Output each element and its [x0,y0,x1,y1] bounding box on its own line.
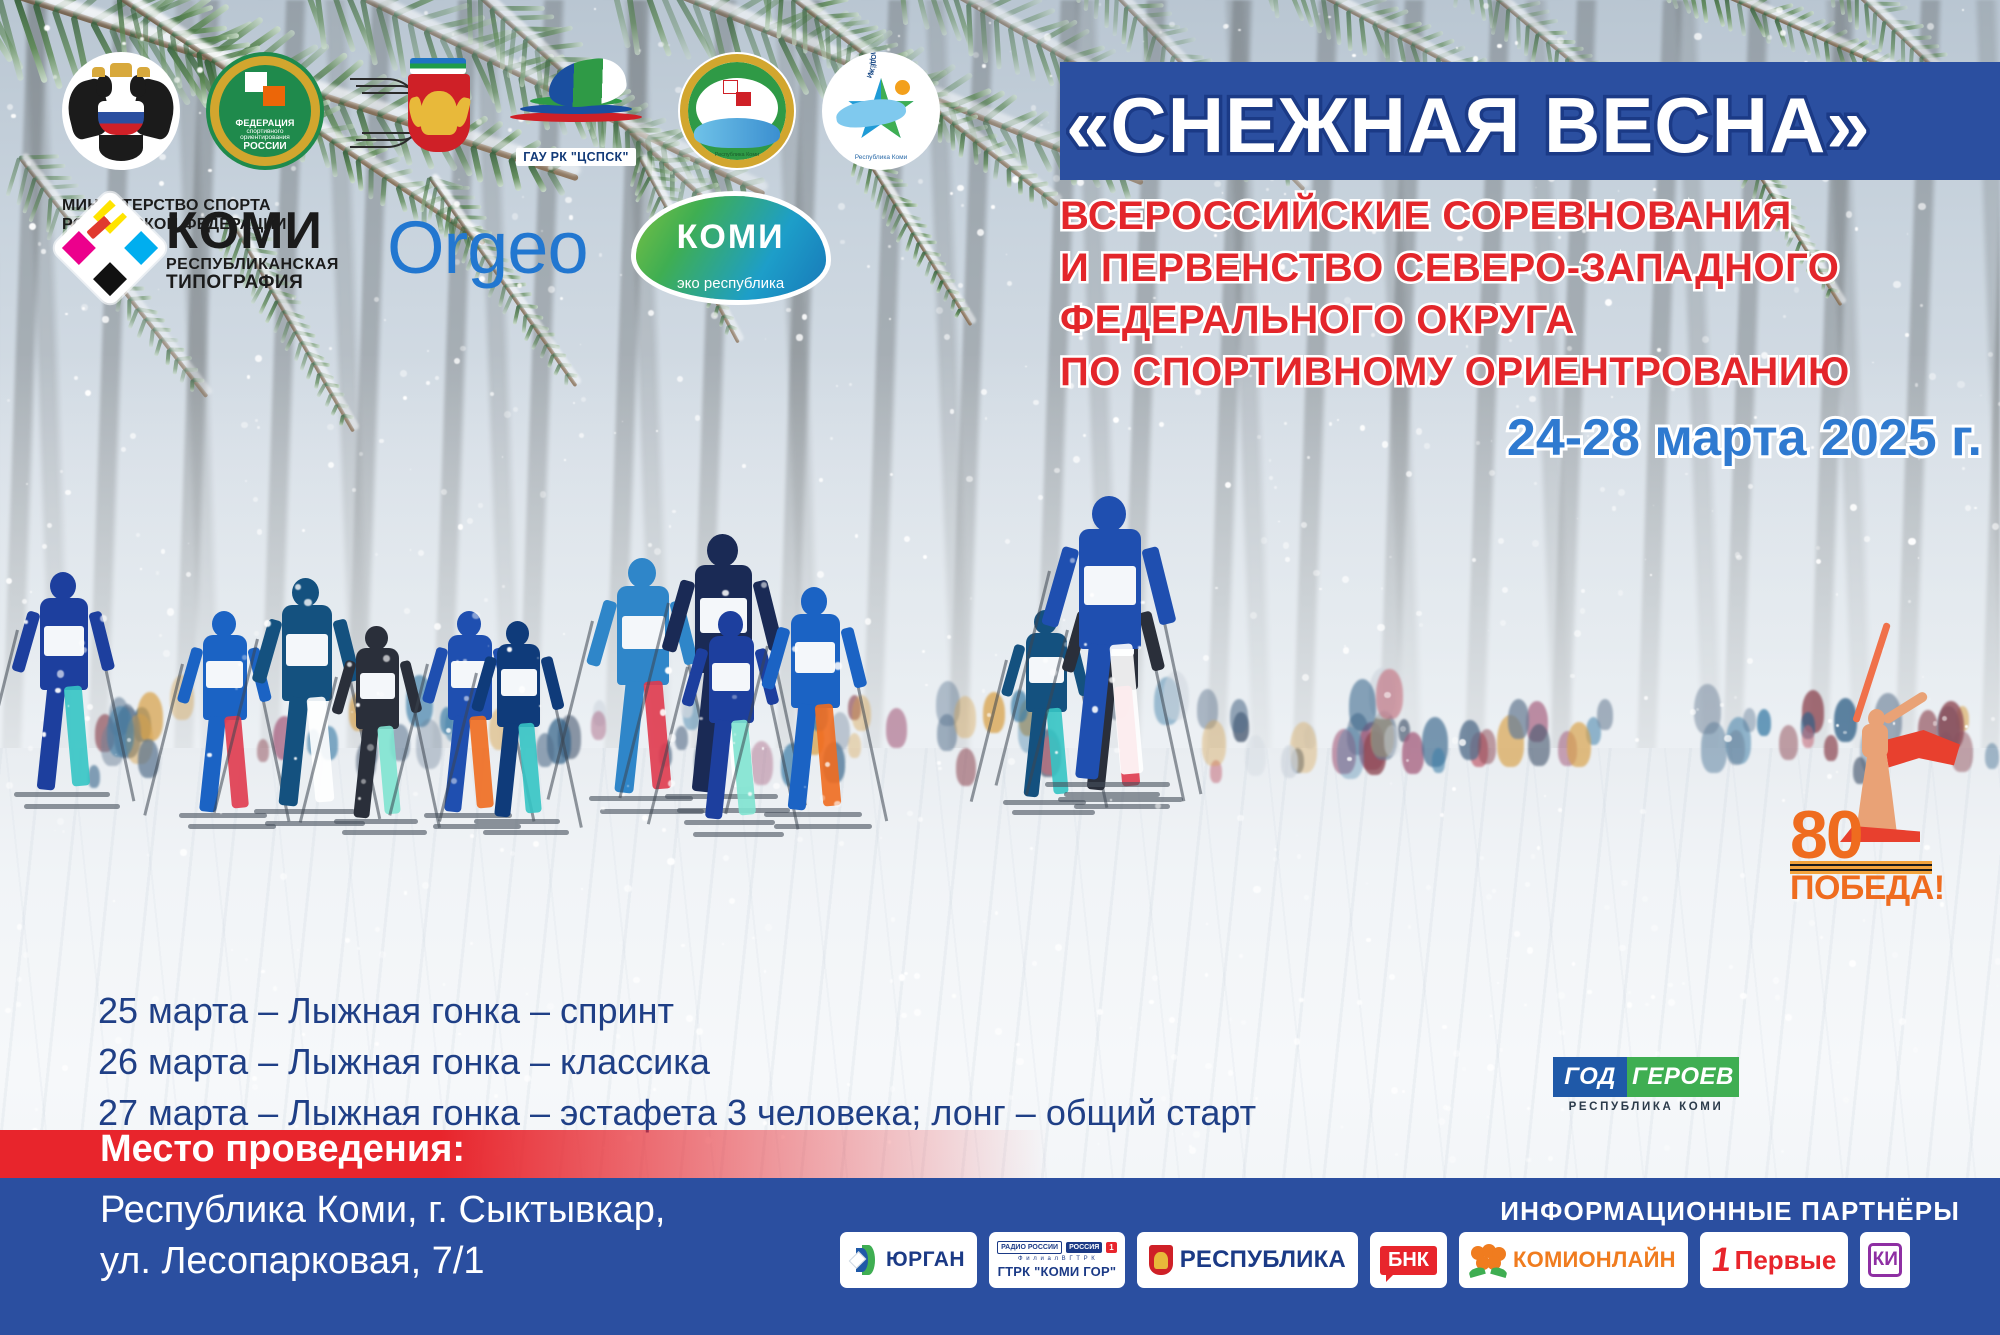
spectator [1337,727,1365,780]
skier-figure [760,575,872,840]
yurgan-mark-icon [852,1245,878,1275]
komi-orienteering-federation-emblem-icon: Республика Коми [678,52,796,170]
partners-title: ИНФОРМАЦИОННЫЕ ПАРТНЁРЫ [1500,1196,1960,1227]
spectator [886,708,907,748]
sponsor-logos-row: КОМИ РЕСПУБЛИКАНСКАЯ ТИПОГРАФИЯ Orgeo КО… [68,196,826,300]
subtitle-line-3: ФЕДЕРАЛЬНОГО ОКРУГА [1060,294,1990,346]
logo-gau-rk-cspsk: ГАУ РК "ЦСПСК" [502,52,652,170]
logo-orgeo: Orgeo [387,211,588,285]
republican-centre-for-children-and-youth-emblem-icon: РЕСПУБЛИКАНСКИЙ ЦЕНТР ДЕТЕЙ И МОЛОДЁЖИ Р… [822,52,940,170]
spectator [1985,743,1999,770]
logo-year-of-heroes: ГОД ГЕРОЕВ РЕСПУБЛИКА КОМИ [1553,1057,1739,1113]
spectator [1376,669,1402,719]
partner-gtrk-komi-gor[interactable]: РАДИО РОССИИ РОССИЯ 1 Ф и л и а л В Г Т … [989,1232,1125,1288]
partner-bnk-label: БНК [1380,1246,1437,1275]
subtitle-line-1: ВСЕРОССИЙСКИЕ СОРЕВНОВАНИЯ [1060,190,1990,242]
schedule-item: 25 марта – Лыжная гонка – спринт [98,985,1256,1036]
venue-address: Республика Коми, г. Сыктывкар, ул. Лесоп… [100,1185,666,1288]
logo-russian-orienteering-federation: ФЕДЕРАЦИЯ спортивного ориентирования РОС… [206,52,324,170]
logo-80-years-victory: 80 ПОБЕДА! [1790,690,1965,900]
partner-komionline[interactable]: КОМИОНЛАЙН [1459,1232,1688,1288]
federation-line4: РОССИИ [206,142,324,152]
event-subtitle: ВСЕРОССИЙСКИЕ СОРЕВНОВАНИЯ И ПЕРВЕНСТВО … [1060,190,1990,398]
youth-centre-subcaption: Республика Коми [822,154,940,161]
year-of-heroes-word-2: ГЕРОЕВ [1632,1063,1734,1091]
spectator [954,696,976,738]
spectator [1230,699,1248,733]
logo-komi-eco-republic: КОМИ эко республика [636,196,826,300]
partner-bnk[interactable]: БНК [1370,1232,1447,1288]
partner-respublika-label: РЕСПУБЛИКА [1180,1246,1346,1274]
partner-pervye-label: Первые [1735,1245,1837,1276]
spectator [1432,748,1445,772]
spectator [1349,679,1376,730]
subtitle-line-4: ПО СПОРТИВНОМУ ОРИЕНТРОВАНИЮ [1060,346,1990,398]
typography-line-3: ТИПОГРАФИЯ [166,273,339,292]
vgtrk-branch-label: Ф и л и а л В Г Т Р К [1018,1256,1096,1262]
spectator [1528,724,1550,766]
headline-block: «СНЕЖНАЯ ВЕСНА» ВСЕРОССИЙСКИЕ СОРЕВНОВАН… [1060,62,1990,464]
event-dates: 24-28 марта 2025 г. [1060,412,1990,464]
victory-word: ПОБЕДА! [1790,869,1945,908]
typography-line-1: КОМИ [166,205,339,257]
event-title: «СНЕЖНАЯ ВЕСНА» [1060,62,1990,164]
spectator [1281,745,1298,778]
partner-komionline-label: КОМИОНЛАЙН [1513,1247,1676,1273]
cloudberry-icon [1471,1244,1505,1276]
victory-number: 80 [1790,806,1914,864]
orgeo-wordmark: Orgeo [387,211,588,285]
spectator [1508,699,1529,738]
venue-label: Место проведения: [100,1128,465,1171]
logo-ministry-of-sport [62,52,180,170]
partner-ki-label: КИ [1868,1243,1902,1277]
pervye-one-icon: 1 [1709,1243,1733,1277]
komi-federation-caption: Республика Коми [678,152,796,158]
partner-respublika[interactable]: РЕСПУБЛИКА [1137,1232,1358,1288]
spectator [1402,732,1424,774]
komi-sport-ministry-emblem-icon [350,52,476,170]
rossiya-label: РОССИЯ [1066,1242,1102,1253]
spectator [956,748,976,786]
skier-figure [10,560,120,820]
gau-rk-cspsk-logo-icon: ГАУ РК "ЦСПСК" [502,52,652,170]
komi-eco-tagline: эко республика [636,275,826,292]
partner-gtrk-label: ГТРК "КОМИ ГОР" [998,1264,1117,1279]
komi-shield-icon [1149,1245,1173,1275]
year-of-heroes-word-1: ГОД [1564,1063,1616,1091]
event-poster: ФЕДЕРАЦИЯ спортивного ориентирования РОС… [0,0,2000,1335]
spectator [1597,699,1613,730]
typography-line-2: РЕСПУБЛИКАНСКАЯ [166,257,339,273]
logo-komi-sport-ministry [350,52,476,170]
schedule-item: 26 марта – Лыжная гонка – классика [98,1036,1256,1087]
skier-figure [470,610,569,844]
venue-address-line-2: ул. Лесопарковая, 7/1 [100,1236,666,1287]
spectator [1727,730,1746,765]
year-of-heroes-caption: РЕСПУБЛИКА КОМИ [1553,1101,1739,1113]
spectator [1743,708,1756,733]
radio-rossii-label: РАДИО РОССИИ [997,1241,1062,1254]
organizer-logos-row: ФЕДЕРАЦИЯ спортивного ориентирования РОС… [62,52,940,170]
russian-orienteering-federation-emblem-icon: ФЕДЕРАЦИЯ спортивного ориентирования РОС… [206,52,324,170]
logo-republican-youth-centre: РЕСПУБЛИКАНСКИЙ ЦЕНТР ДЕТЕЙ И МОЛОДЁЖИ Р… [822,52,940,170]
partners-logo-row: ЮРГАН РАДИО РОССИИ РОССИЯ 1 Ф и л и а л … [840,1232,1910,1288]
spectator [1245,735,1266,775]
spectator [1567,722,1591,767]
subtitle-line-2: И ПЕРВЕНСТВО СЕВЕРО-ЗАПАДНОГО [1060,242,1990,294]
rossiya-channel-badge: 1 [1106,1242,1116,1253]
spectator [1694,684,1720,734]
logo-komi-orienteering-federation: Республика Коми [678,52,796,170]
spectator [1757,709,1771,736]
spectator [1384,725,1400,756]
venue-label-bar: Место проведения: [0,1130,1050,1178]
cmyk-diamond-icon [51,189,170,308]
ministry-of-sport-emblem-icon [62,52,180,170]
partner-pervye[interactable]: 1 Первые [1700,1232,1849,1288]
spectator [1202,720,1226,766]
venue-address-line-1: Республика Коми, г. Сыктывкар, [100,1185,666,1236]
komi-eco-wordmark: КОМИ [636,218,826,257]
partner-yurgan[interactable]: ЮРГАН [840,1232,977,1288]
partner-ki[interactable]: КИ [1860,1232,1910,1288]
skier-figure [1040,480,1183,818]
partner-yurgan-label: ЮРГАН [886,1248,965,1272]
event-schedule-list: 25 марта – Лыжная гонка – спринт 26 март… [98,985,1256,1138]
cspsk-label: ГАУ РК "ЦСПСК" [516,148,636,166]
spectator [1478,729,1496,763]
